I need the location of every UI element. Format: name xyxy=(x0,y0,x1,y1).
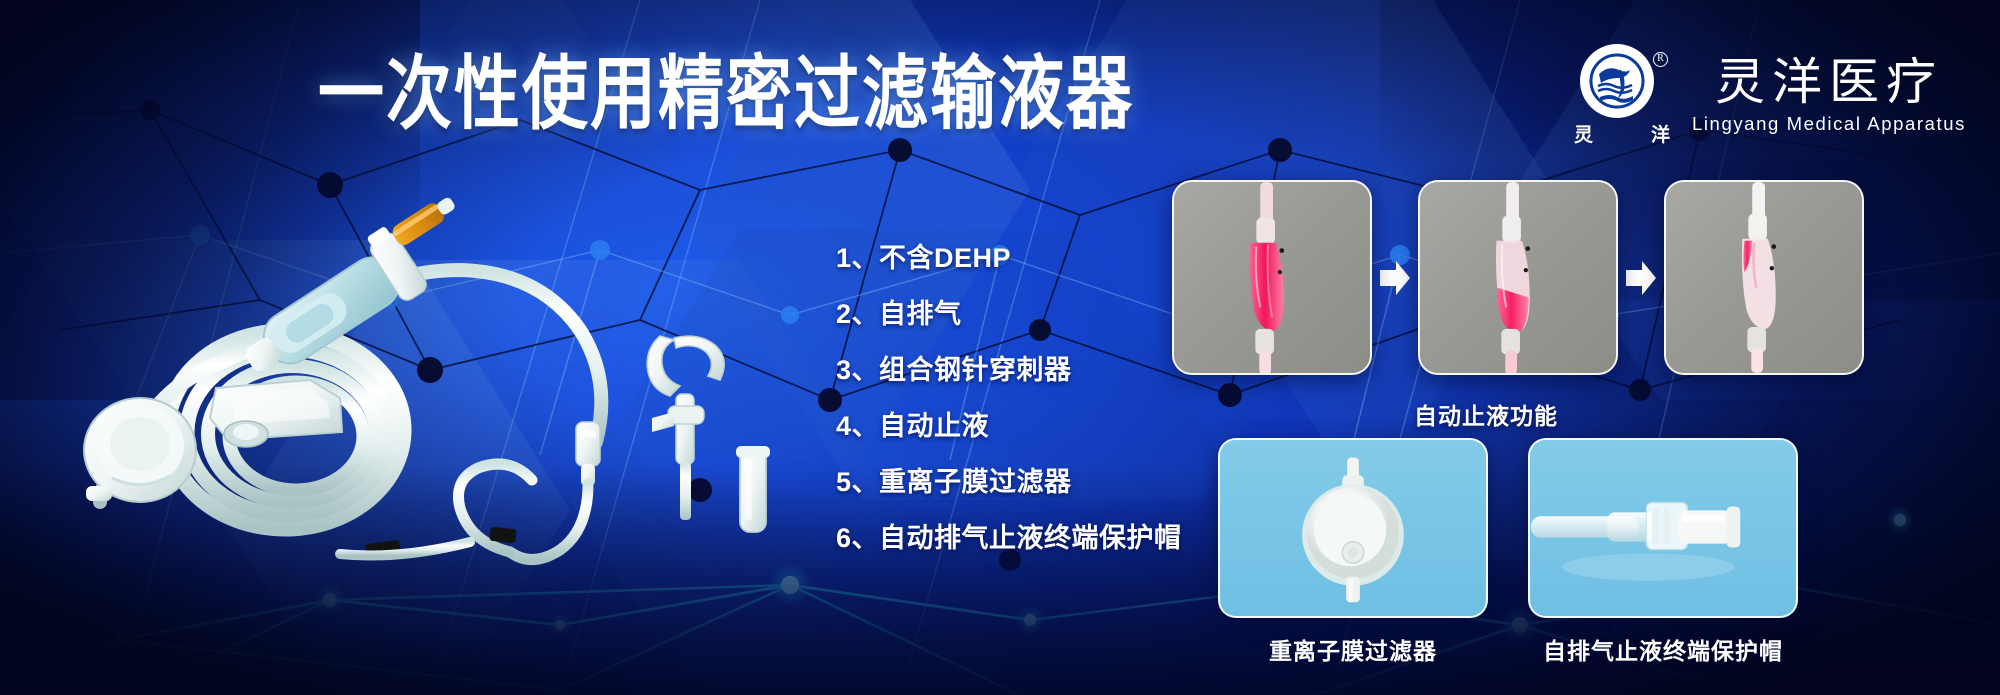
product-photo-infusion-set xyxy=(40,150,820,570)
label-clip-part xyxy=(489,527,516,544)
brand-logo: R 灵 洋 灵洋医疗 Lingyang Medical Apparatus xyxy=(1574,44,1966,144)
feature-item-4: 4、自动止液 xyxy=(836,398,1182,454)
drip-stop-half-icon xyxy=(1420,182,1616,373)
logo-emblem: R 灵 洋 xyxy=(1574,44,1670,144)
logo-emblem-sub-right: 洋 xyxy=(1651,120,1670,147)
detail-caption-cap: 自排气止液终端保护帽 xyxy=(1528,632,1798,666)
detail-panel-cap xyxy=(1528,438,1798,618)
logo-emblem-subtext: 灵 洋 xyxy=(1574,120,1670,147)
company-name-en: Lingyang Medical Apparatus xyxy=(1692,113,1966,135)
detail-panel-filter xyxy=(1218,438,1488,618)
ion-membrane-filter-icon xyxy=(1220,440,1486,616)
sequence-arrow-1 xyxy=(1372,261,1418,295)
feature-item-3: 3、组合钢针穿刺器 xyxy=(836,342,1182,398)
sequence-frame-2 xyxy=(1418,180,1618,375)
detail-panel-row xyxy=(1218,438,1798,618)
sequence-frame-1 xyxy=(1172,180,1372,375)
circular-wave-emblem-icon xyxy=(1580,44,1654,118)
feature-list: 1、不含DEHP 2、自排气 3、组合钢针穿刺器 4、自动止液 5、重离子膜过滤… xyxy=(836,230,1182,566)
inline-connector-part xyxy=(576,422,600,486)
feature-item-1: 1、不含DEHP xyxy=(836,230,1182,286)
feature-item-2: 2、自排气 xyxy=(836,286,1182,342)
feature-item-5: 5、重离子膜过滤器 xyxy=(836,454,1182,510)
right-arrow-icon xyxy=(1626,261,1656,295)
right-arrow-icon xyxy=(1380,261,1410,295)
company-name-cn: 灵洋医疗 xyxy=(1715,54,1943,110)
registered-trademark-icon: R xyxy=(1653,52,1668,67)
feature-item-6: 6、自动排气止液终端保护帽 xyxy=(836,510,1182,566)
wave-bird-glyph-icon xyxy=(1586,50,1648,112)
terminal-protective-cap-icon xyxy=(1530,440,1796,616)
logo-emblem-sub-left: 灵 xyxy=(1574,120,1593,147)
steel-needle-part xyxy=(647,336,724,520)
sequence-arrow-2 xyxy=(1618,261,1664,295)
disc-filter-part xyxy=(84,398,196,502)
protective-cap-part xyxy=(736,446,770,532)
drip-stop-empty-icon xyxy=(1666,182,1862,373)
auto-stop-caption: 自动止液功能 xyxy=(1172,397,1800,431)
product-banner: 一次性使用精密过滤输液器 R 灵 洋 灵洋医疗 xyxy=(0,0,2000,695)
infusion-set-illustration-icon xyxy=(40,150,820,570)
brand-wordmark: 灵洋医疗 Lingyang Medical Apparatus xyxy=(1692,54,1966,135)
page-title: 一次性使用精密过滤输液器 xyxy=(318,52,1134,137)
sequence-frame-3 xyxy=(1664,180,1864,375)
detail-caption-filter: 重离子膜过滤器 xyxy=(1218,632,1488,666)
drip-stop-full-icon xyxy=(1174,182,1370,373)
spike-cap-part xyxy=(390,193,459,248)
auto-stop-sequence-row xyxy=(1172,180,1864,375)
roller-clamp-part xyxy=(210,380,342,447)
detail-caption-row: 重离子膜过滤器 自排气止液终端保护帽 xyxy=(1218,632,1798,666)
